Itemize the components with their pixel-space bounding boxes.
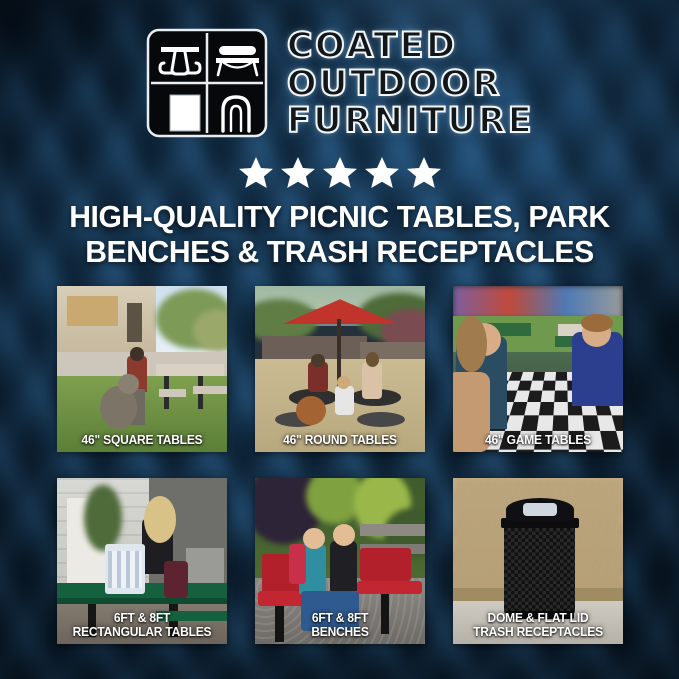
photo-game-tables	[453, 286, 623, 452]
star-icon	[407, 156, 441, 189]
tile-caption-round-tables: 46" ROUND TABLES	[255, 434, 425, 448]
page-title: HIGH-QUALITY PICNIC TABLES, PARK BENCHES…	[0, 200, 679, 269]
product-tile-game-tables[interactable]: 46" GAME TABLES	[453, 286, 623, 452]
product-tile-round-tables[interactable]: 46" ROUND TABLES	[255, 286, 425, 452]
trash-receptacle-icon	[170, 95, 200, 131]
tile-caption-trash-receptacles: DOME & FLAT LID TRASH RECEPTACLES	[453, 612, 623, 639]
product-tile-rectangular-tables[interactable]: 6FT & 8FT RECTANGULAR TABLES	[57, 478, 227, 644]
logo-line-coated: COATED	[287, 28, 458, 64]
logo-line-furniture: FURNITURE	[287, 103, 534, 139]
headline-line-2: BENCHES & TRASH RECEPTACLES	[33, 235, 645, 270]
star-icon	[323, 156, 357, 189]
star-icon	[281, 156, 315, 189]
star-icon	[239, 156, 273, 189]
star-rating	[0, 156, 679, 189]
tile-caption-rectangular-tables: 6FT & 8FT RECTANGULAR TABLES	[57, 612, 227, 639]
coated-outdoor-furniture-logo-mark	[145, 27, 269, 139]
product-banner: COATED OUTDOOR FURNITURE HIGH-QUALITY PI…	[0, 0, 679, 679]
star-icon	[365, 156, 399, 189]
headline-line-1: HIGH-QUALITY PICNIC TABLES, PARK	[33, 200, 645, 235]
tile-caption-game-tables: 46" GAME TABLES	[453, 434, 623, 448]
product-tile-square-tables[interactable]: 46" SQUARE TABLES	[57, 286, 227, 452]
product-tile-benches[interactable]: 6FT & 8FT BENCHES	[255, 478, 425, 644]
product-tile-trash-receptacles[interactable]: DOME & FLAT LID TRASH RECEPTACLES	[453, 478, 623, 644]
logo-line-outdoor: OUTDOOR	[287, 66, 502, 102]
tile-caption-square-tables: 46" SQUARE TABLES	[57, 434, 227, 448]
product-category-grid: 46" SQUARE TABLES	[57, 286, 623, 644]
photo-square-tables	[57, 286, 227, 452]
tile-caption-benches: 6FT & 8FT BENCHES	[255, 612, 425, 639]
brand-wordmark: COATED OUTDOOR FURNITURE	[287, 26, 534, 139]
photo-round-tables	[255, 286, 425, 452]
brand-logo: COATED OUTDOOR FURNITURE	[0, 22, 679, 144]
